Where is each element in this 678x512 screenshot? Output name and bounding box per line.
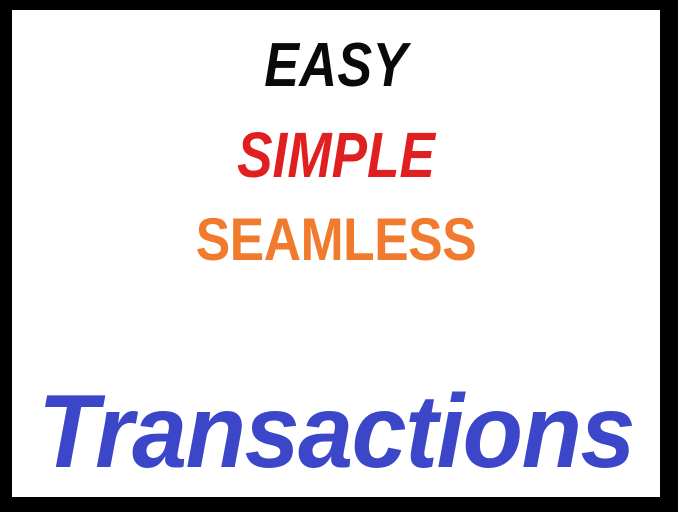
- poster-graphic: EASY SIMPLE SEAMLESS Transactions: [0, 0, 678, 512]
- headline-transactions: Transactions: [28, 380, 644, 484]
- tagline-word-seamless: SEAMLESS: [57, 210, 614, 270]
- poster-canvas: EASY SIMPLE SEAMLESS Transactions: [12, 10, 660, 497]
- tagline-word-simple: SIMPLE: [67, 123, 605, 187]
- tagline-word-easy: EASY: [64, 35, 608, 97]
